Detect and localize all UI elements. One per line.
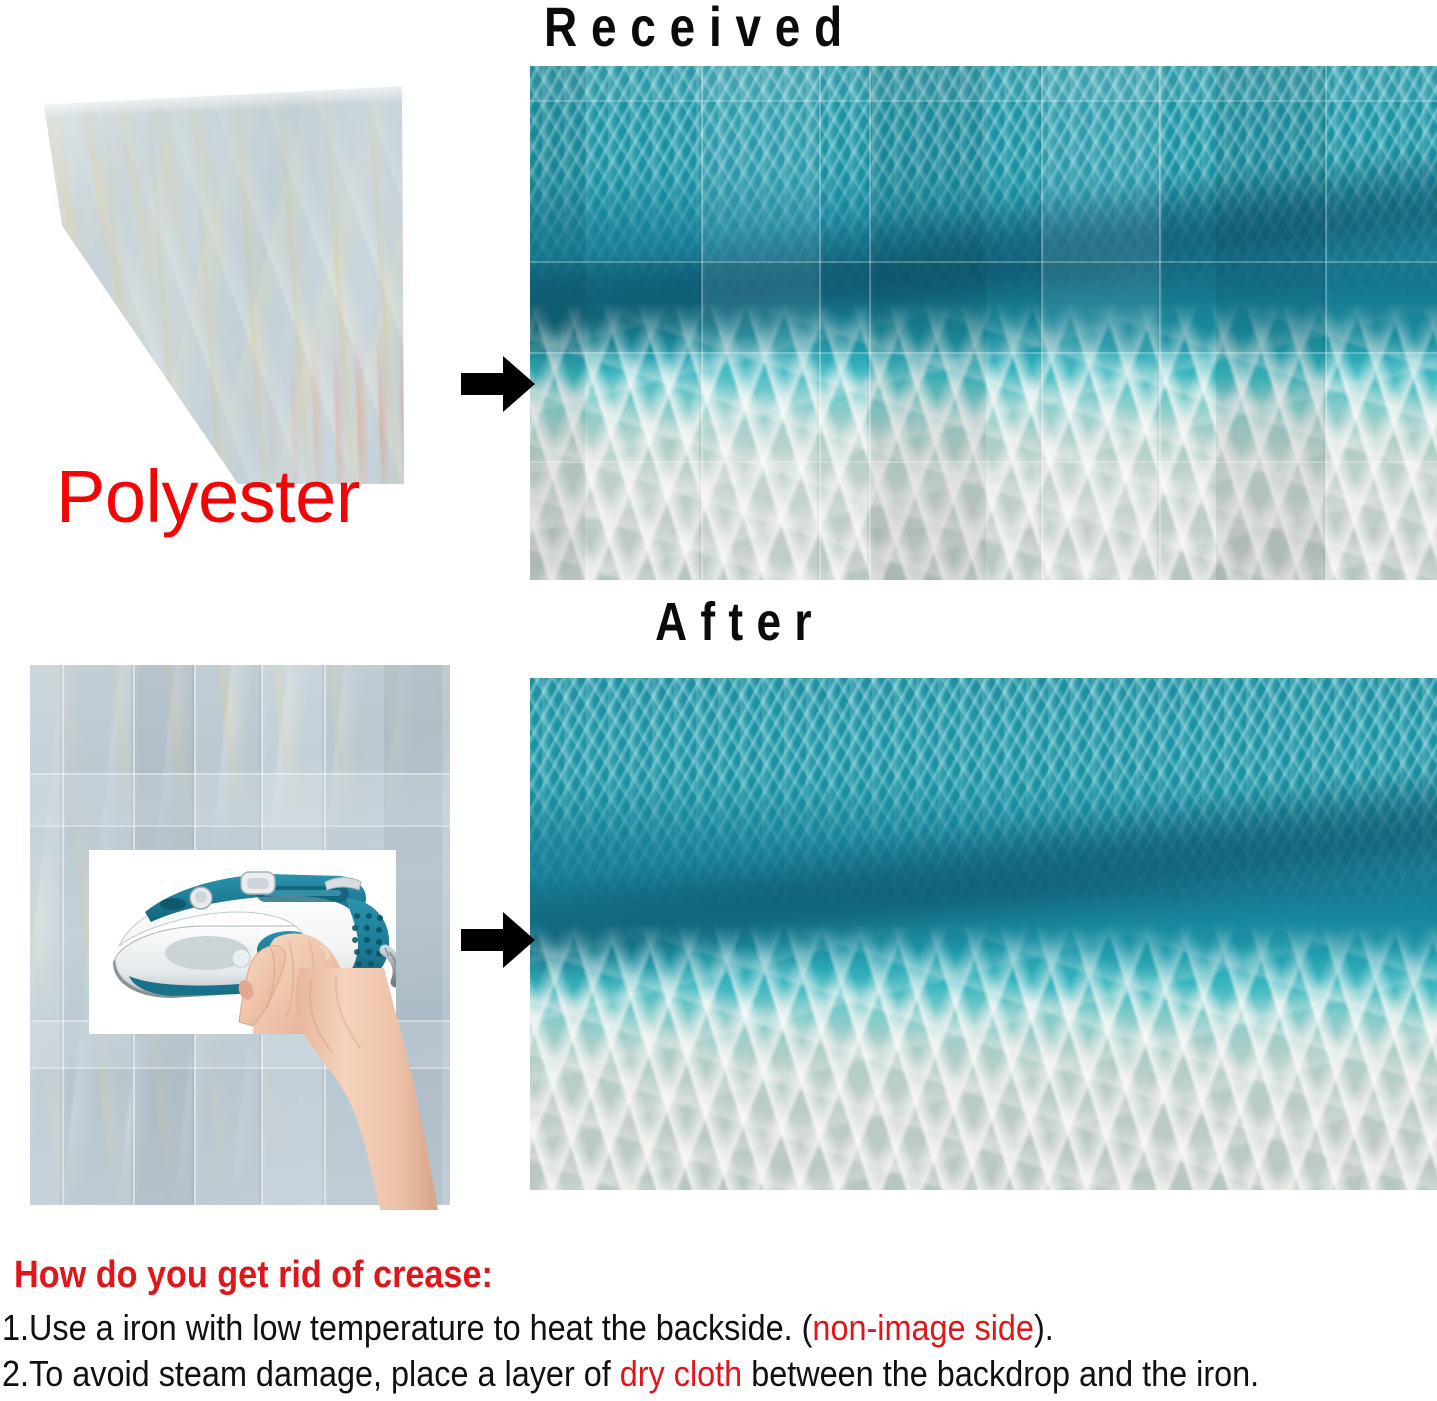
polyester-material-label: Polyester <box>56 455 360 539</box>
arrow-right-icon <box>461 356 535 417</box>
instructions-block: How do you get rid of crease: 1.Use a ir… <box>14 1252 1434 1398</box>
swatch-warm-edge-texture <box>18 78 418 488</box>
instruction-line-2-text-a: 2.To avoid steam damage, place a layer o… <box>2 1353 620 1394</box>
instruction-line-2-text-b: between the backdrop and the iron. <box>742 1353 1259 1394</box>
seabed-caustics <box>530 924 1437 1190</box>
instruction-line-1-text-a: 1.Use a iron with low temperature to hea… <box>2 1307 812 1348</box>
instruction-line-1-highlight: non-image side <box>812 1307 1034 1348</box>
after-heading: After <box>568 592 912 652</box>
instructions-title: How do you get rid of crease: <box>14 1252 1292 1298</box>
instruction-line-1: 1.Use a iron with low temperature to hea… <box>2 1306 1291 1350</box>
after-backdrop-photo <box>530 678 1437 1190</box>
received-backdrop-photo <box>530 66 1437 580</box>
hand-icon <box>288 960 448 1210</box>
instruction-line-1-text-b: ). <box>1034 1307 1054 1348</box>
seabed-caustics <box>530 302 1437 580</box>
fabric-swatch-photo <box>18 78 418 488</box>
instruction-line-2-highlight: dry cloth <box>620 1353 742 1394</box>
arrow-right-icon <box>461 912 535 973</box>
received-heading: Received <box>479 0 922 58</box>
instruction-line-2: 2.To avoid steam damage, place a layer o… <box>2 1352 1291 1396</box>
